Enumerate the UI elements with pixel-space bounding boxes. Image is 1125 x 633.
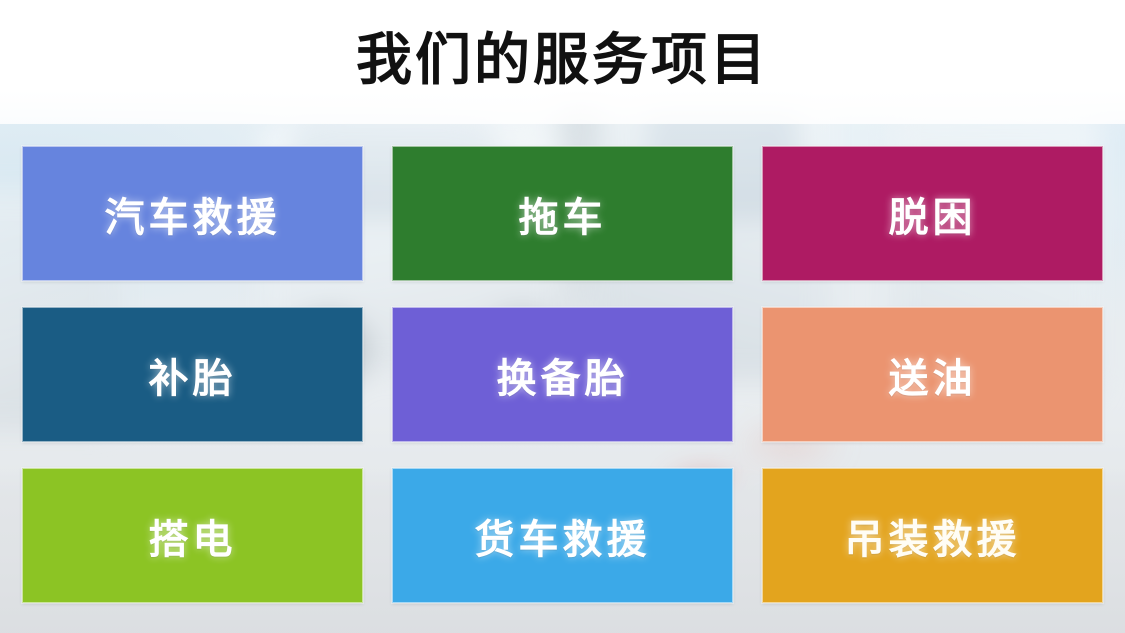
service-tile-extraction[interactable]: 脱困 bbox=[762, 146, 1103, 281]
service-tile-crane-lifting-rescue[interactable]: 吊装救援 bbox=[762, 468, 1103, 603]
service-tile-fuel-delivery[interactable]: 送油 bbox=[762, 307, 1103, 442]
service-tile-label: 货车救援 bbox=[475, 507, 651, 565]
service-tile-label: 换备胎 bbox=[497, 346, 629, 404]
service-tile-jump-start[interactable]: 搭电 bbox=[22, 468, 363, 603]
service-tile-truck-rescue[interactable]: 货车救援 bbox=[392, 468, 733, 603]
service-tile-label: 拖车 bbox=[519, 185, 607, 243]
service-tile-car-rescue[interactable]: 汽车救援 bbox=[22, 146, 363, 281]
service-grid: 汽车救援拖车脱困补胎换备胎送油搭电货车救援吊装救援 bbox=[22, 146, 1103, 603]
service-tile-spare-tire-change[interactable]: 换备胎 bbox=[392, 307, 733, 442]
service-tile-label: 吊装救援 bbox=[845, 507, 1021, 565]
service-tile-towing[interactable]: 拖车 bbox=[392, 146, 733, 281]
service-tile-label: 搭电 bbox=[149, 507, 237, 565]
page-title: 我们的服务项目 bbox=[356, 32, 769, 92]
header-band: 我们的服务项目 bbox=[0, 0, 1125, 124]
service-poster: 我们的服务项目 汽车救援拖车脱困补胎换备胎送油搭电货车救援吊装救援 bbox=[0, 0, 1125, 633]
service-tile-tire-repair[interactable]: 补胎 bbox=[22, 307, 363, 442]
service-tile-label: 补胎 bbox=[149, 346, 237, 404]
service-tile-label: 汽车救援 bbox=[105, 185, 281, 243]
service-tile-label: 送油 bbox=[889, 346, 977, 404]
service-tile-label: 脱困 bbox=[889, 185, 977, 243]
